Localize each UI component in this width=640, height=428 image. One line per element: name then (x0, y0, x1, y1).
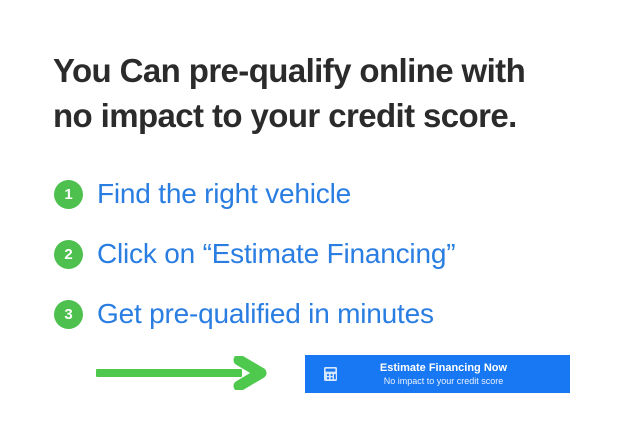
list-item: 3 Get pre-qualified in minutes (54, 284, 614, 344)
cta-text-block: Estimate Financing Now No impact to your… (347, 361, 570, 387)
headline-line-2: no impact to your credit score. (53, 93, 598, 138)
step-number-badge: 3 (54, 300, 83, 329)
steps-list: 1 Find the right vehicle 2 Click on “Est… (54, 164, 614, 344)
page-title: You Can pre-qualify online with no impac… (53, 48, 598, 138)
calculator-icon (313, 366, 347, 382)
list-item: 2 Click on “Estimate Financing” (54, 224, 614, 284)
estimate-financing-button[interactable]: Estimate Financing Now No impact to your… (305, 355, 570, 393)
step-number-badge: 1 (54, 180, 83, 209)
step-label: Get pre-qualified in minutes (97, 300, 434, 328)
step-label: Find the right vehicle (97, 180, 351, 208)
step-label: Click on “Estimate Financing” (97, 240, 455, 268)
arrow-right-icon (96, 356, 274, 390)
promo-banner: You Can pre-qualify online with no impac… (0, 0, 640, 428)
cta-title: Estimate Financing Now (380, 361, 507, 375)
cta-subtitle: No impact to your credit score (384, 375, 504, 387)
list-item: 1 Find the right vehicle (54, 164, 614, 224)
step-number-badge: 2 (54, 240, 83, 269)
headline-line-1: You Can pre-qualify online with (53, 48, 598, 93)
